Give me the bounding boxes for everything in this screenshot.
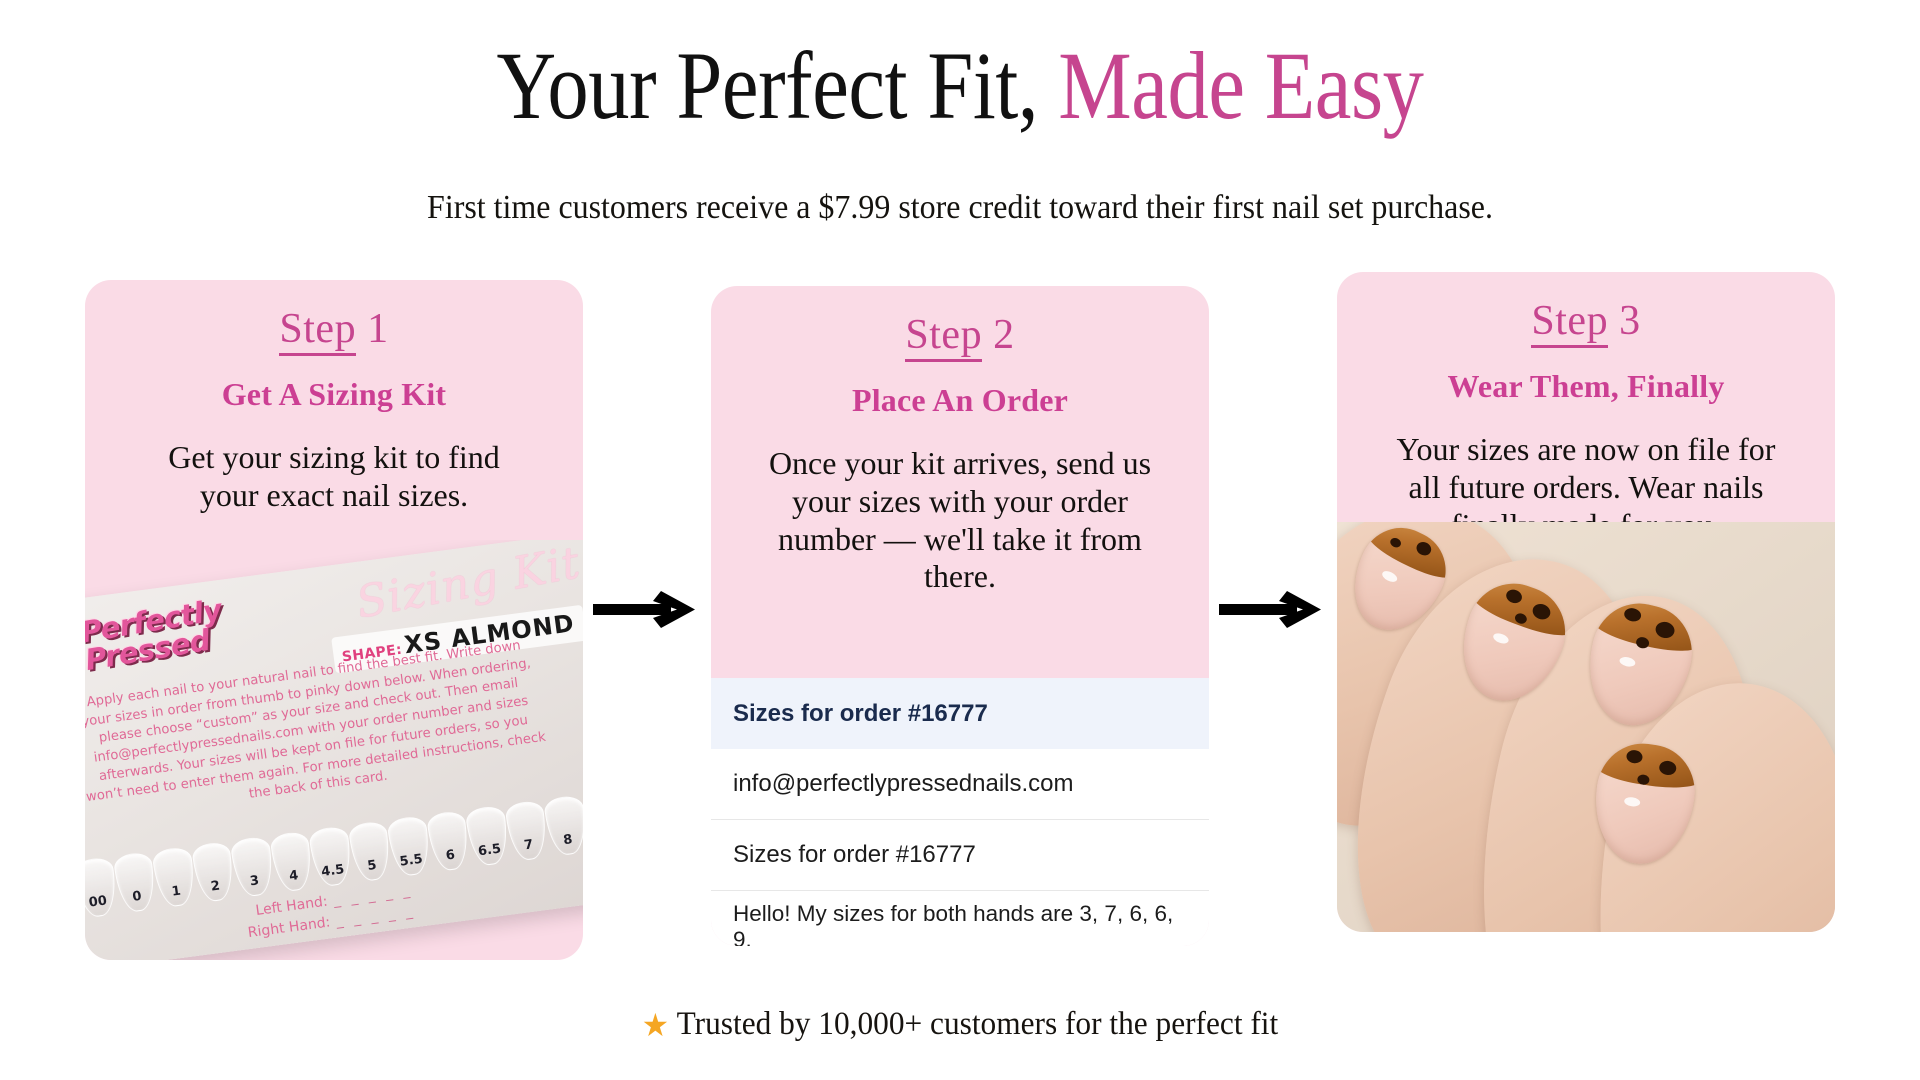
nail-size-label: 6 <box>431 846 469 866</box>
promo-infographic: Your Perfect Fit, Made Easy First time c… <box>0 0 1920 1080</box>
nail-sample: 0 <box>112 851 158 914</box>
step-1-label: Step 1 <box>109 306 559 352</box>
page-title: Your Perfect Fit, Made Easy <box>134 34 1785 138</box>
step-1-number: 1 <box>367 306 389 352</box>
nail-sample: 6 <box>426 810 472 873</box>
step-card-2[interactable]: Step 2 Place An Order Once your kit arri… <box>711 286 1209 946</box>
step-3-label-word: Step <box>1531 298 1608 348</box>
step-2-label: Step 2 <box>735 312 1185 358</box>
sizing-kit-card: Perfectly Pressed Sizing Kit SHAPE:XS AL… <box>85 540 583 960</box>
step-1-label-word: Step <box>279 306 356 356</box>
nail-size-label: 5 <box>353 856 391 876</box>
step-2-label-word: Step <box>905 312 982 362</box>
email-screenshot: Sizes for order #16777 info@perfectlypre… <box>711 678 1209 946</box>
step-2-title: Place An Order <box>735 382 1185 419</box>
nail-size-label: 0 <box>118 887 156 907</box>
nail-size-label: 3 <box>235 872 273 892</box>
arrow-right-icon <box>593 588 701 632</box>
nail-size-label: 1 <box>157 882 195 902</box>
step-3-head: Step 3 Wear Them, Finally Your sizes are… <box>1337 272 1835 544</box>
page-title-plain: Your Perfect Fit, <box>496 32 1058 139</box>
arrow-1-2 <box>583 280 711 940</box>
step-2-number: 2 <box>993 312 1015 358</box>
nail-size-label: 00 <box>85 892 117 912</box>
trust-line: ★Trusted by 10,000+ customers for the pe… <box>48 1006 1872 1044</box>
nail-sample: 5 <box>347 820 393 883</box>
brand-logo: Perfectly Pressed <box>85 589 275 675</box>
nail-sample: 8 <box>543 794 583 857</box>
nail-sample: 1 <box>151 846 197 909</box>
step-card-1[interactable]: Step 1 Get A Sizing Kit Get your sizing … <box>85 280 583 960</box>
page-subtitle: First time customers receive a $7.99 sto… <box>58 187 1863 230</box>
page-title-accent: Made Easy <box>1058 32 1423 139</box>
steps-row: Step 1 Get A Sizing Kit Get your sizing … <box>0 280 1920 970</box>
email-subject-row[interactable]: Sizes for order #16777 <box>711 678 1209 749</box>
nail-sample: 4.5 <box>308 825 354 888</box>
email-subject-field-row[interactable]: Sizes for order #16777 <box>711 820 1209 891</box>
sizing-kit-photo: Perfectly Pressed Sizing Kit SHAPE:XS AL… <box>85 540 583 960</box>
nail-size-label: 6.5 <box>470 841 508 861</box>
email-address-row[interactable]: info@perfectlypressednails.com <box>711 749 1209 820</box>
nail-sample: 3 <box>230 836 276 899</box>
nail-size-label: 2 <box>196 877 234 897</box>
step-3-label: Step 3 <box>1361 298 1811 344</box>
nail-sample: 4 <box>269 831 315 894</box>
star-icon: ★ <box>642 1007 669 1043</box>
nail-size-label: 4 <box>275 866 313 886</box>
trust-line-text: Trusted by 10,000+ customers for the per… <box>677 1006 1279 1042</box>
step-1-body: Get your sizing kit to find your exact n… <box>109 439 559 515</box>
step-3-number: 3 <box>1619 298 1641 344</box>
step-card-3[interactable]: Step 3 Wear Them, Finally Your sizes are… <box>1337 272 1835 932</box>
arrow-right-icon <box>1219 588 1327 632</box>
nail-sample: 7 <box>504 800 550 863</box>
nail-sample: 2 <box>191 841 237 904</box>
nail-size-label: 8 <box>549 830 583 850</box>
arrow-2-3 <box>1209 280 1337 940</box>
step-1-head: Step 1 Get A Sizing Kit Get your sizing … <box>85 280 583 515</box>
nail-sample: 6.5 <box>465 805 511 868</box>
step-2-body: Once your kit arrives, send us your size… <box>735 445 1185 596</box>
step-1-title: Get A Sizing Kit <box>109 376 559 413</box>
step-3-title: Wear Them, Finally <box>1361 368 1811 405</box>
step-2-head: Step 2 Place An Order Once your kit arri… <box>711 286 1209 596</box>
nail-sample: 5.5 <box>386 815 432 878</box>
nail-size-label: 4.5 <box>314 861 352 881</box>
nail-size-label: 5.5 <box>392 851 430 871</box>
finished-nails-photo <box>1337 522 1835 932</box>
email-body-row[interactable]: Hello! My sizes for both hands are 3, 7,… <box>711 891 1209 946</box>
nail-size-label: 7 <box>510 835 548 855</box>
